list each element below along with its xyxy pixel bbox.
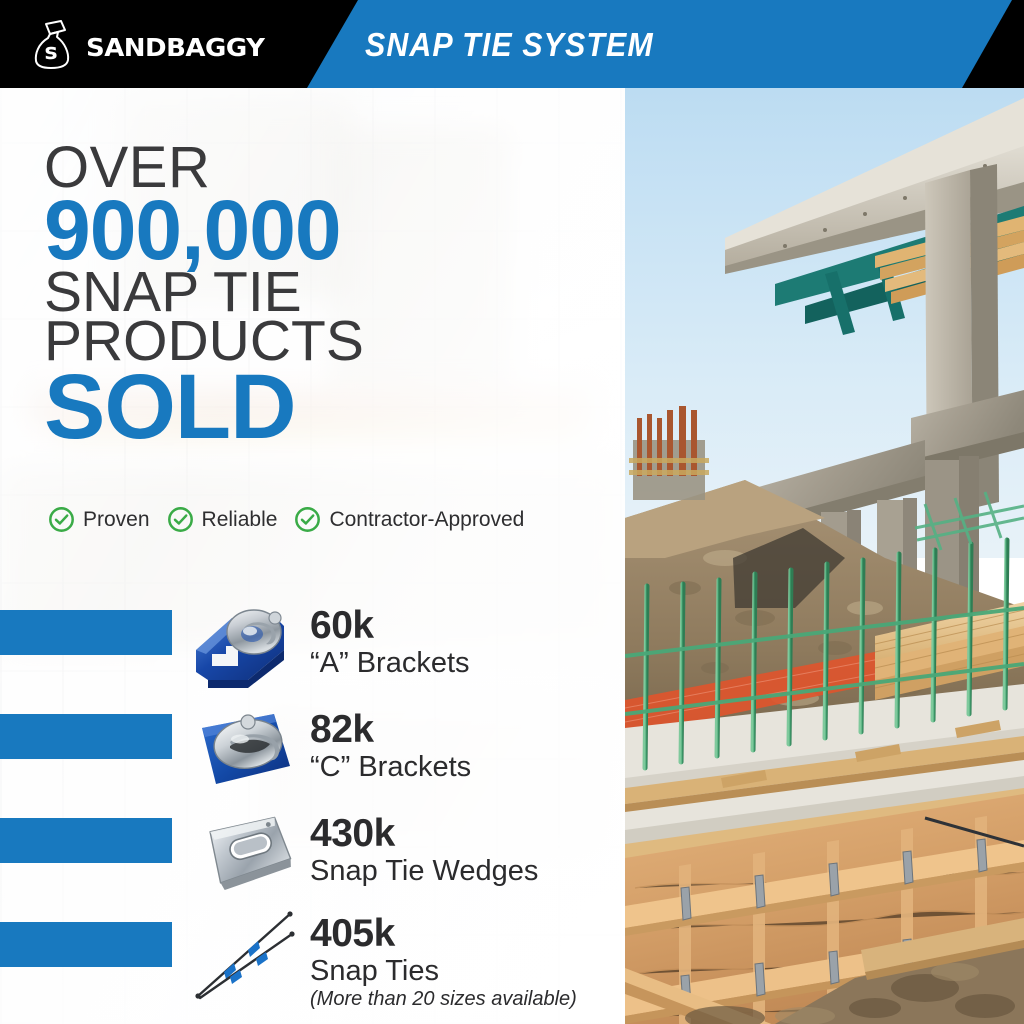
- stat-bar: [0, 818, 172, 863]
- stat-value: 405k: [310, 914, 610, 953]
- stat-row: 82k “C” Brackets: [0, 692, 625, 796]
- infographic-canvas: s sandbaggy SNAP TIE SYSTEM OVER 900,000…: [0, 0, 1024, 1024]
- header-bar: s sandbaggy SNAP TIE SYSTEM: [0, 0, 1024, 88]
- badge-label: Contractor-Approved: [329, 508, 524, 532]
- stat-text: 405k Snap Ties (More than 20 sizes avail…: [310, 914, 610, 1010]
- headline-line-number: 900,000: [44, 195, 584, 266]
- a-bracket-icon: [186, 588, 310, 692]
- stat-row: 405k Snap Ties (More than 20 sizes avail…: [0, 900, 625, 1004]
- brand-wordmark: sandbaggy: [86, 28, 264, 63]
- stat-label: “C” Brackets: [310, 751, 610, 783]
- badge-proven: Proven: [48, 506, 150, 533]
- stat-text: 82k “C” Brackets: [310, 710, 610, 783]
- stat-bar: [0, 610, 172, 655]
- badge-label: Proven: [83, 508, 150, 532]
- sandbag-icon: s: [30, 20, 76, 70]
- stat-value: 82k: [310, 710, 610, 749]
- stat-label: Snap Tie Wedges: [310, 855, 610, 887]
- stat-bar: [0, 714, 172, 759]
- snap-tie-icon: [186, 900, 310, 1004]
- header-title: SNAP TIE SYSTEM: [365, 26, 654, 64]
- check-circle-icon: [48, 506, 75, 533]
- badge-label: Reliable: [202, 508, 278, 532]
- headline-block: OVER 900,000 SNAP TIE PRODUCTS SOLD: [44, 144, 584, 446]
- stat-bar: [0, 922, 172, 967]
- stat-note: (More than 20 sizes available): [310, 988, 610, 1010]
- stat-value: 60k: [310, 606, 610, 645]
- stat-text: 430k Snap Tie Wedges: [310, 814, 610, 887]
- stat-label: Snap Ties: [310, 955, 610, 987]
- headline-line-sold: SOLD: [44, 369, 584, 446]
- stat-row: 430k Snap Tie Wedges: [0, 796, 625, 900]
- construction-photo: [625, 88, 1024, 1024]
- brand-logo[interactable]: s sandbaggy: [30, 20, 258, 70]
- stat-value: 430k: [310, 814, 610, 853]
- stat-label: “A” Brackets: [310, 647, 610, 679]
- check-circle-icon: [294, 506, 321, 533]
- c-bracket-icon: [186, 692, 310, 796]
- badge-contractor-approved: Contractor-Approved: [294, 506, 524, 533]
- snap-tie-wedge-icon: [186, 796, 310, 900]
- check-circle-icon: [167, 506, 194, 533]
- svg-text:s: s: [44, 40, 57, 65]
- trust-badges-row: Proven Reliable Contra: [48, 506, 524, 533]
- badge-reliable: Reliable: [167, 506, 278, 533]
- product-stats-list: 60k “A” Brackets: [0, 588, 625, 1004]
- left-content-panel: OVER 900,000 SNAP TIE PRODUCTS SOLD Prov…: [0, 88, 625, 1024]
- stat-row: 60k “A” Brackets: [0, 588, 625, 692]
- stat-text: 60k “A” Brackets: [310, 606, 610, 679]
